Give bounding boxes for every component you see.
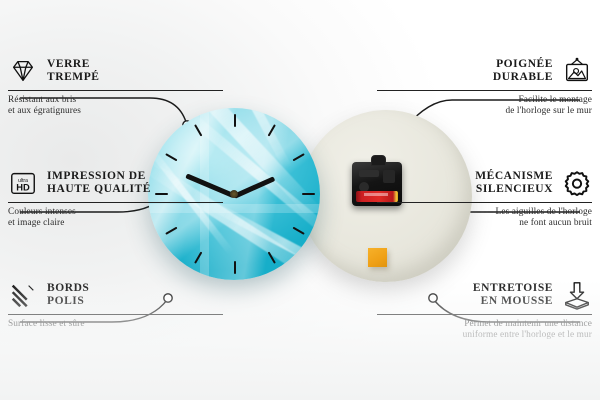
gear-icon <box>562 168 592 198</box>
clock-tick <box>302 193 315 195</box>
feature-header: VERRE TREMPÉ <box>8 56 223 86</box>
feature-title: MÉCANISME SILENCIEUX <box>475 170 553 197</box>
feature-mecanisme-silencieux: MÉCANISME SILENCIEUX Les aiguilles de l'… <box>377 168 592 230</box>
hanging-frame-icon <box>562 56 592 86</box>
feature-verre-trempe: VERRE TREMPÉ Résistant aux bris et aux é… <box>8 56 223 118</box>
divider <box>8 90 223 91</box>
clock-tick <box>234 114 236 127</box>
down-arrow-layer-icon <box>562 280 592 310</box>
svg-text:HD: HD <box>16 183 30 193</box>
feature-entretoise-mousse: ENTRETOISE EN MOUSSE Permet de maintenir… <box>377 280 592 342</box>
divider <box>8 314 223 315</box>
diamond-icon <box>8 56 38 86</box>
feature-title: BORDS POLIS <box>47 282 89 309</box>
clock-tick <box>234 261 236 274</box>
feature-header: POIGNÉE DURABLE <box>377 56 592 86</box>
feature-bords-polis: BORDS POLIS Surface lisse et sûre <box>8 280 223 330</box>
divider <box>8 202 223 203</box>
foam-spacer-icon <box>368 248 387 267</box>
diagonal-lines-icon <box>8 280 38 310</box>
divider <box>377 202 592 203</box>
mechanism-detail <box>359 170 379 177</box>
feature-impression: ultra HD IMPRESSION DE HAUTE QUALITÉ Cou… <box>8 168 223 230</box>
feature-header: MÉCANISME SILENCIEUX <box>377 168 592 198</box>
feature-poignee-durable: POIGNÉE DURABLE Facilite le montage de l… <box>377 56 592 118</box>
feature-title: POIGNÉE DURABLE <box>493 58 553 85</box>
clock-tick <box>293 227 305 235</box>
ultra-hd-icon: ultra HD <box>8 168 38 198</box>
divider <box>377 90 592 91</box>
clock-center-pin <box>230 190 238 198</box>
feature-title: VERRE TREMPÉ <box>47 58 100 85</box>
feature-header: ultra HD IMPRESSION DE HAUTE QUALITÉ <box>8 168 223 198</box>
feature-header: ENTRETOISE EN MOUSSE <box>377 280 592 310</box>
feature-header: BORDS POLIS <box>8 280 223 310</box>
infographic-canvas: VERRE TREMPÉ Résistant aux bris et aux é… <box>0 0 600 400</box>
feature-title: IMPRESSION DE HAUTE QUALITÉ <box>47 170 151 197</box>
mechanism-hanger-tab <box>371 155 386 166</box>
feature-title: ENTRETOISE EN MOUSSE <box>473 282 553 309</box>
divider <box>377 314 592 315</box>
